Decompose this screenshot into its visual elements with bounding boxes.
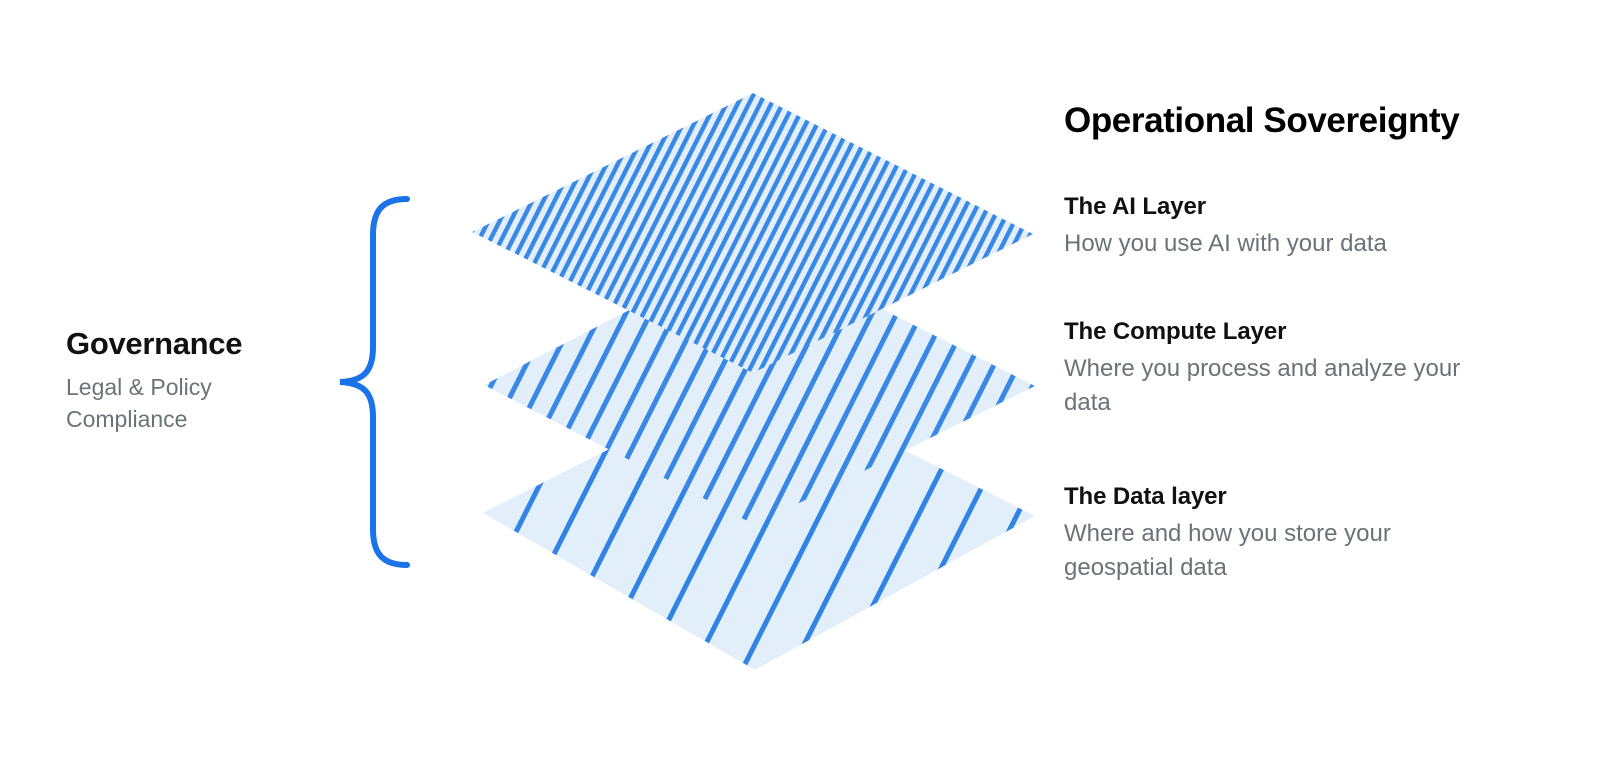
layer-entry-data: The Data layer Where and how you store y… bbox=[1064, 482, 1504, 585]
layer-legend: Operational Sovereignty The AI Layer How… bbox=[1064, 100, 1564, 142]
layer-name-data: The Data layer bbox=[1064, 482, 1504, 512]
isometric-layer-stack bbox=[450, 70, 1070, 700]
governance-subtitle: Legal & Policy Compliance bbox=[66, 371, 316, 436]
curly-brace-left-icon bbox=[310, 195, 430, 570]
layer-name-ai: The AI Layer bbox=[1064, 192, 1504, 222]
layer-description-ai: How you use AI with your data bbox=[1064, 227, 1504, 261]
layer-description-compute: Where you process and analyze your data bbox=[1064, 352, 1504, 420]
layer-entry-compute: The Compute Layer Where you process and … bbox=[1064, 317, 1504, 420]
layer-entry-ai: The AI Layer How you use AI with your da… bbox=[1064, 192, 1504, 261]
governance-title: Governance bbox=[66, 326, 316, 362]
page-title: Operational Sovereignty bbox=[1064, 100, 1564, 142]
governance-group-label: Governance Legal & Policy Compliance bbox=[66, 326, 316, 436]
layer-plane-ai bbox=[472, 93, 1033, 373]
layer-name-compute: The Compute Layer bbox=[1064, 317, 1504, 347]
layer-description-data: Where and how you store your geospatial … bbox=[1064, 517, 1504, 585]
governance-subtitle-line-1: Legal & Policy bbox=[66, 374, 212, 400]
governance-subtitle-line-2: Compliance bbox=[66, 406, 187, 432]
diagram-root: Governance Legal & Policy Compliance bbox=[0, 0, 1600, 777]
